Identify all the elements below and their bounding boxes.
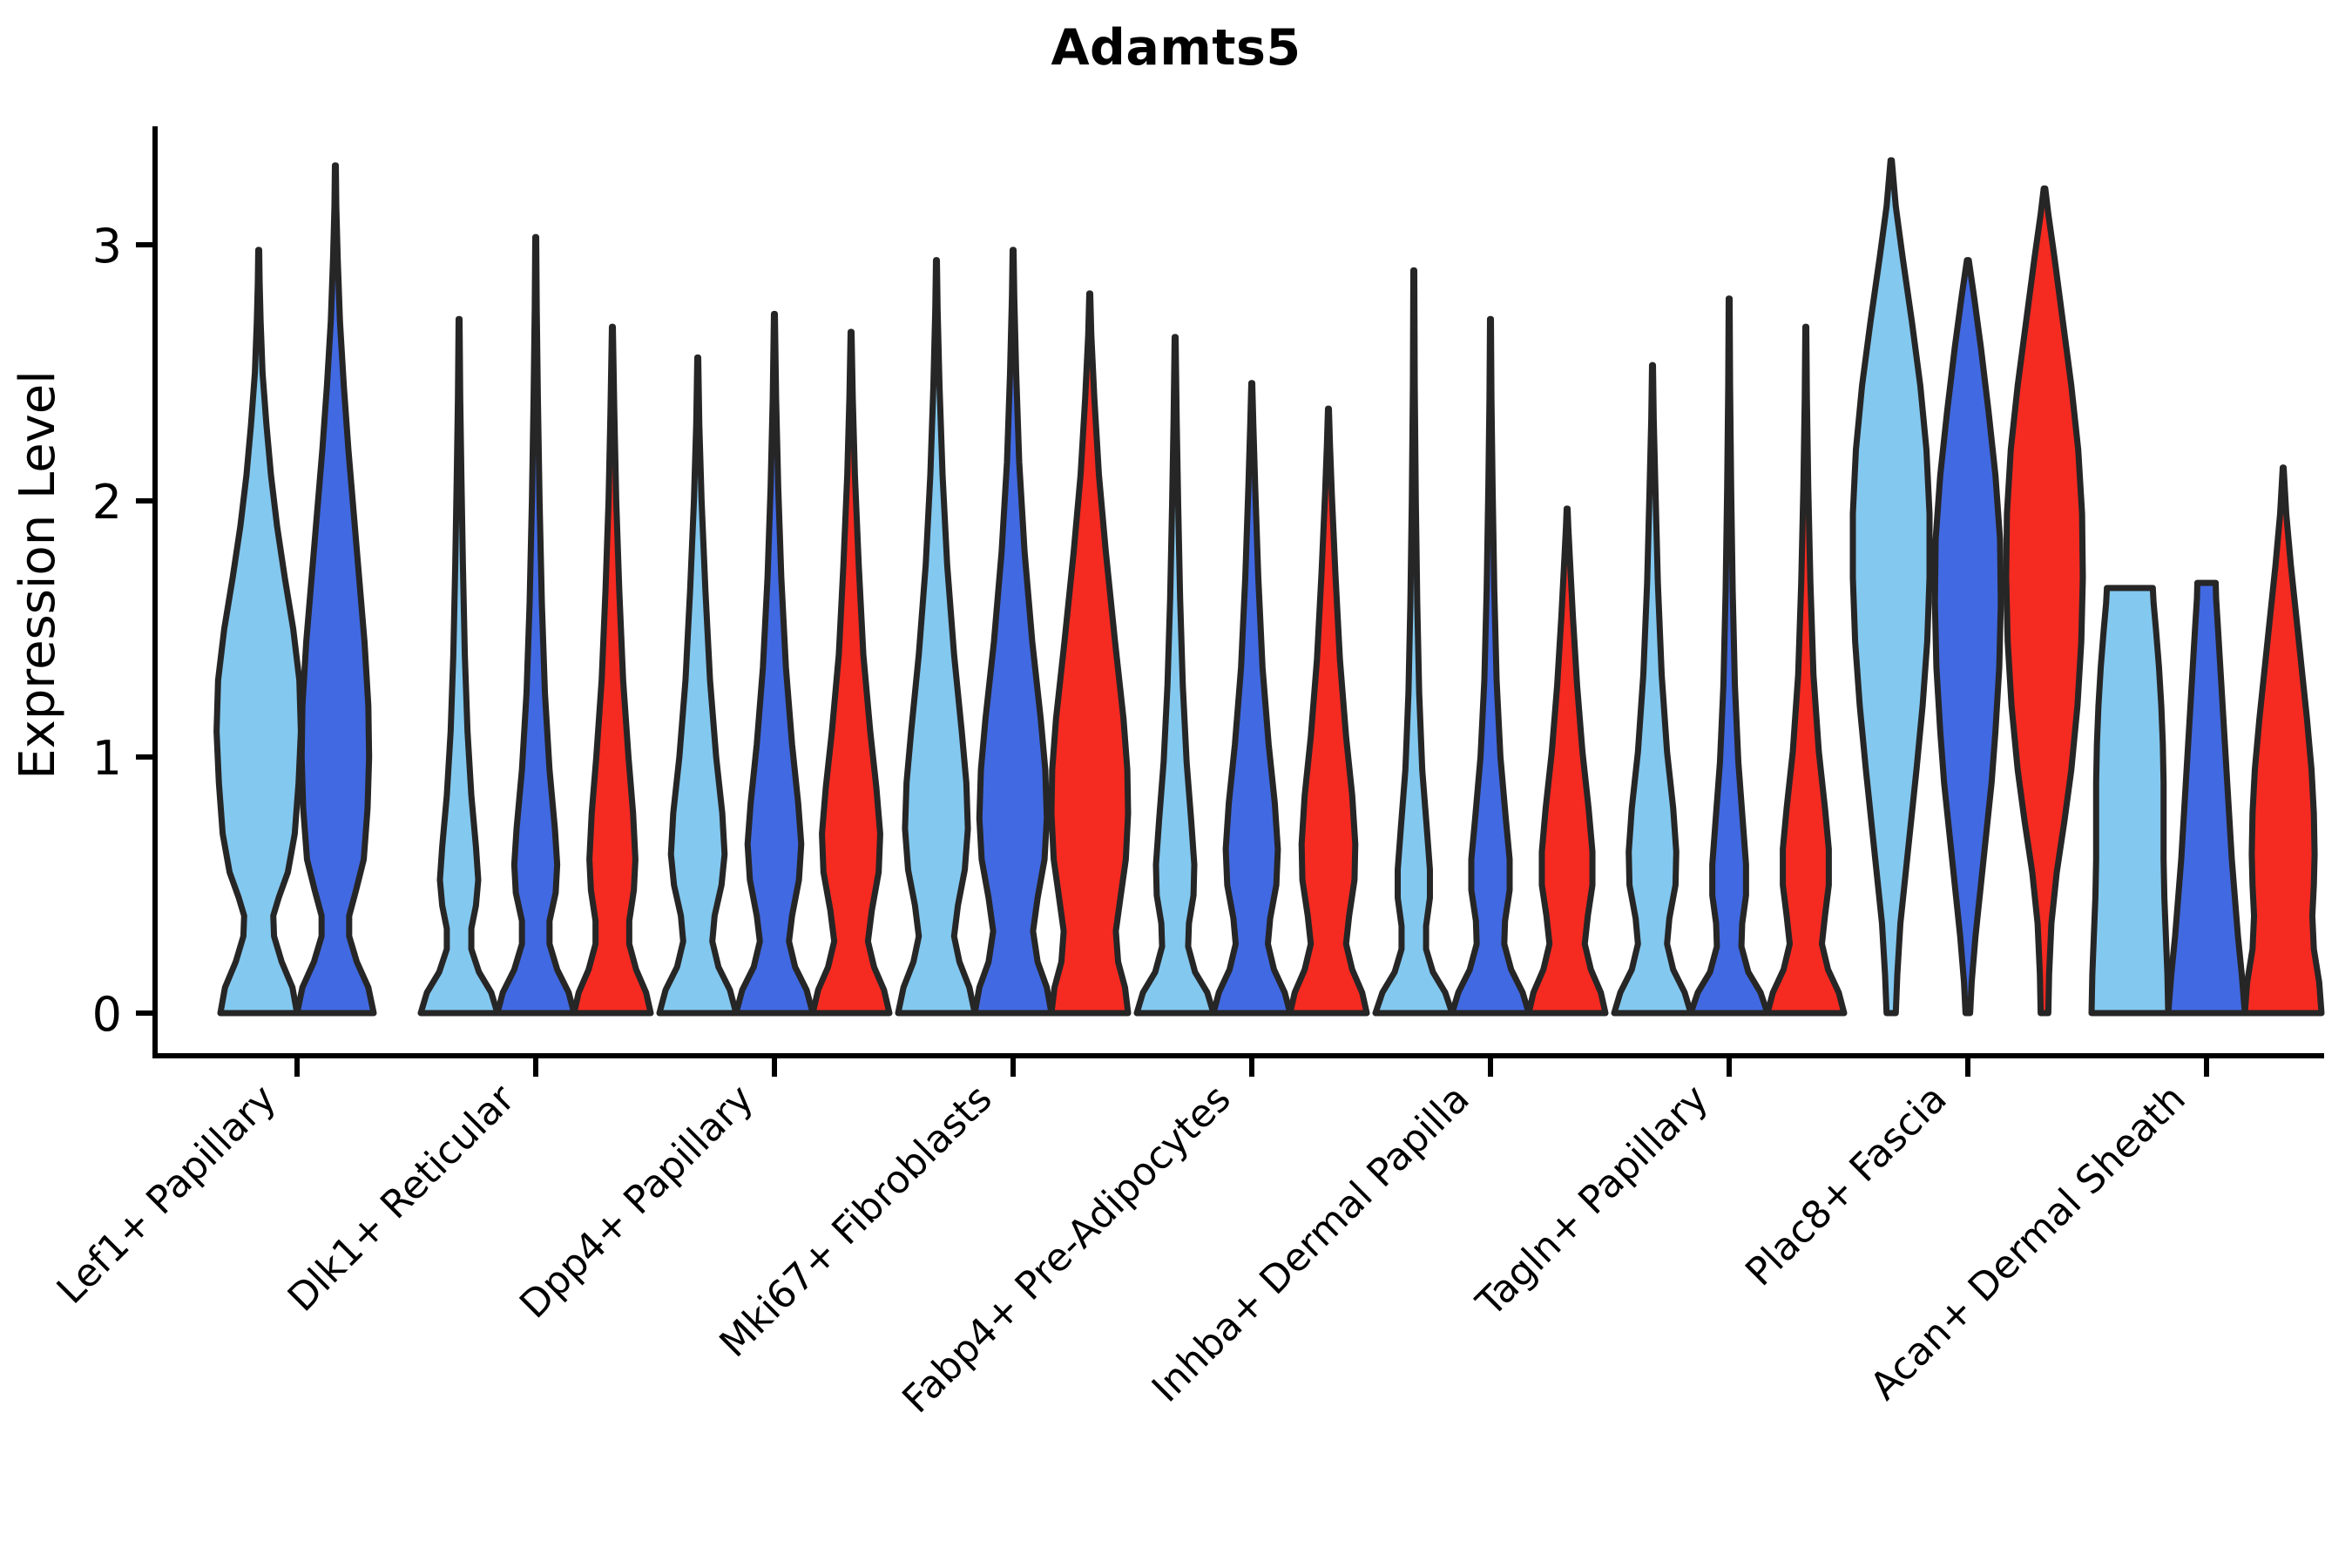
violin-shape bbox=[421, 319, 497, 1013]
violin-shape bbox=[1935, 260, 2001, 1013]
violin-group-7 bbox=[1614, 299, 1844, 1013]
y-tick-label: 1 bbox=[92, 731, 122, 786]
violin-shape bbox=[2245, 468, 2322, 1013]
violin-shape bbox=[1452, 319, 1529, 1013]
violin-shape bbox=[1767, 327, 1844, 1013]
violin-shape bbox=[659, 357, 736, 1013]
y-tick-label: 0 bbox=[92, 987, 122, 1042]
violin-shape bbox=[497, 237, 574, 1013]
violin-shape bbox=[1290, 409, 1367, 1013]
violin-shape bbox=[975, 250, 1051, 1013]
x-tick-label: Dpp4+ Papillary bbox=[511, 1077, 762, 1328]
violin-group-6 bbox=[1375, 270, 1605, 1013]
x-tick-label: Tagln+ Papillary bbox=[1468, 1077, 1717, 1326]
violin-group-1 bbox=[217, 166, 374, 1013]
violin-shape bbox=[2092, 588, 2168, 1013]
violin-shape bbox=[813, 332, 889, 1013]
violins-layer bbox=[217, 160, 2322, 1013]
x-tick-label: Lef1+ Papillary bbox=[49, 1077, 285, 1313]
y-tick-label: 2 bbox=[92, 475, 122, 530]
violin-shape bbox=[1691, 299, 1767, 1013]
violin-shape bbox=[1213, 383, 1290, 1013]
violin-group-9 bbox=[2092, 468, 2322, 1013]
violin-shape bbox=[2168, 583, 2245, 1013]
violin-shape bbox=[1614, 365, 1691, 1013]
violin-group-4 bbox=[898, 250, 1128, 1013]
chart-canvas: 0123Lef1+ PapillaryDlk1+ ReticularDpp4+ … bbox=[0, 0, 2352, 1568]
violin-shape bbox=[1375, 270, 1452, 1013]
violin-group-3 bbox=[659, 314, 889, 1013]
violin-shape bbox=[1137, 337, 1213, 1013]
violin-shape bbox=[2006, 188, 2083, 1013]
x-tick-label: Mki67+ Fibroblasts bbox=[711, 1077, 1000, 1366]
violin-shape bbox=[736, 314, 813, 1013]
violin-shape bbox=[1051, 294, 1128, 1013]
violin-plot-figure: Adamts5 0123Lef1+ PapillaryDlk1+ Reticul… bbox=[0, 0, 2352, 1568]
violin-shape bbox=[898, 260, 975, 1013]
x-tick-label: Plac8+ Fascia bbox=[1737, 1077, 1956, 1295]
violin-group-2 bbox=[421, 237, 651, 1013]
violin-shape bbox=[1853, 160, 1930, 1013]
violin-group-5 bbox=[1137, 337, 1367, 1013]
x-tick-label: Dlk1+ Reticular bbox=[280, 1076, 524, 1321]
violin-group-8 bbox=[1853, 160, 2083, 1013]
y-axis-title: Expression Level bbox=[10, 370, 66, 780]
violin-shape bbox=[574, 327, 651, 1013]
y-tick-label: 3 bbox=[92, 219, 122, 274]
violin-shape bbox=[1529, 509, 1605, 1013]
violin-shape bbox=[217, 250, 301, 1013]
violin-shape bbox=[297, 166, 374, 1013]
